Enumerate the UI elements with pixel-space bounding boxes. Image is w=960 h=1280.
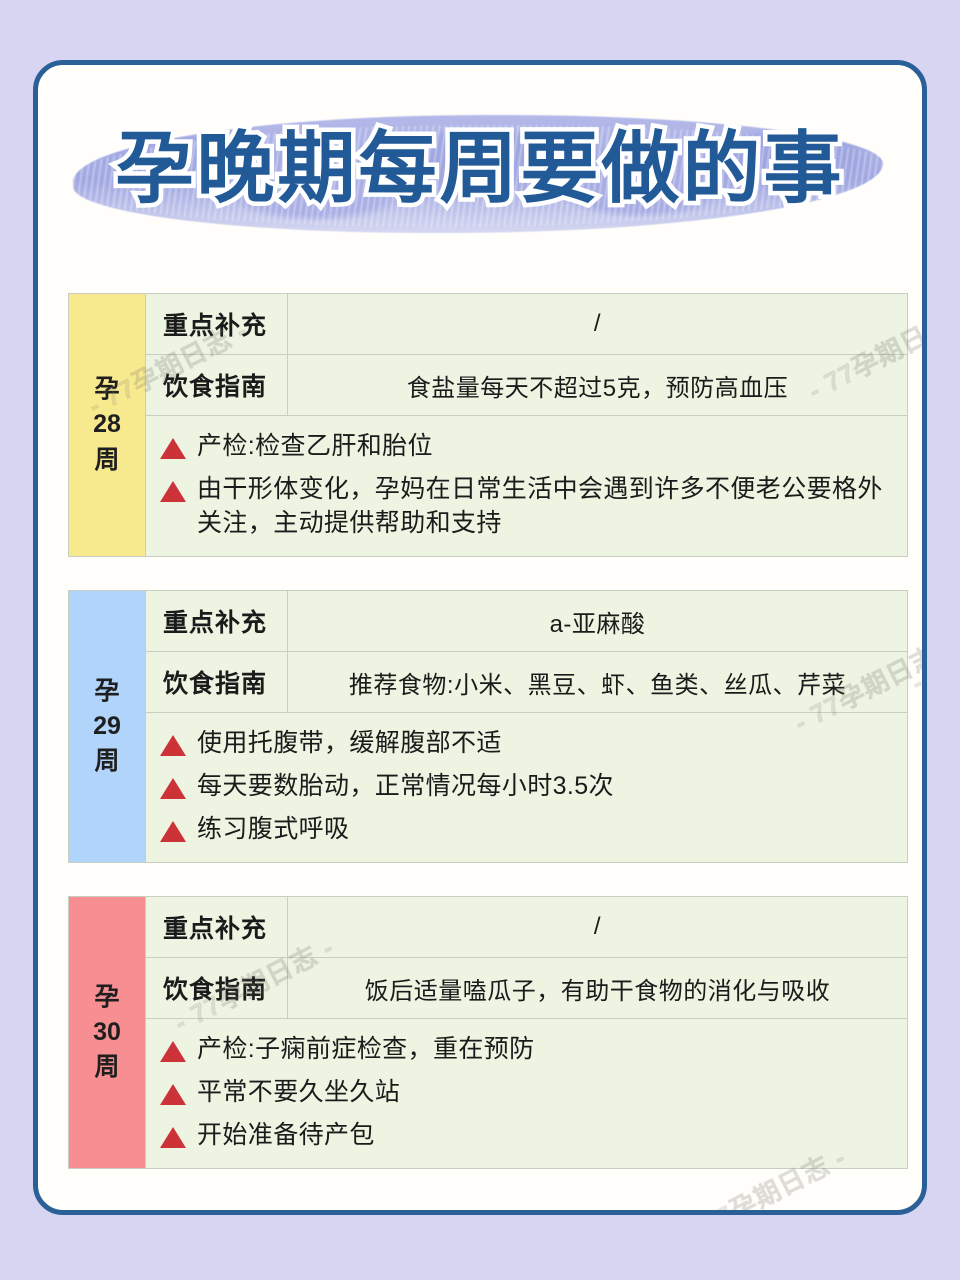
poster-card: 孕晚期每周要做的事 孕 28 周 重点补充 / 饮食指南 食盐量每天不超过5克，… [33, 60, 927, 1215]
triangle-bullet-icon [160, 778, 186, 799]
triangle-bullet-icon [160, 1084, 186, 1105]
row-label: 重点补充 [146, 294, 288, 354]
table-row: 重点补充 a-亚麻酸 [146, 591, 907, 652]
week-block: 孕 30 周 重点补充 / 饮食指南 饭后适量嗑瓜子，有助干食物的消化与吸收 产… [68, 896, 908, 1169]
page-title: 孕晚期每周要做的事 [38, 93, 922, 243]
week-block: 孕 29 周 重点补充 a-亚麻酸 饮食指南 推荐食物:小米、黑豆、虾、鱼类、丝… [68, 590, 908, 863]
list-item: 使用托腹带，缓解腹部不适 [160, 726, 891, 760]
row-value: 推荐食物:小米、黑豆、虾、鱼类、丝瓜、芹菜 [288, 652, 907, 712]
table-row: 重点补充 / [146, 897, 907, 958]
note-text: 产检:检查乙肝和胎位 [197, 429, 433, 463]
row-label: 饮食指南 [146, 652, 288, 712]
row-value: / [288, 294, 907, 354]
list-item: 每天要数胎动，正常情况每小时3.5次 [160, 769, 891, 803]
note-list: 产检:子痫前症检查，重在预防 平常不要久坐久站 开始准备待产包 [146, 1019, 907, 1168]
triangle-bullet-icon [160, 821, 186, 842]
week-number: 30 [93, 1017, 121, 1048]
week-suffix: 周 [94, 1052, 119, 1083]
week-block: 孕 28 周 重点补充 / 饮食指南 食盐量每天不超过5克，预防高血压 产检:检… [68, 293, 908, 557]
week-content: 重点补充 a-亚麻酸 饮食指南 推荐食物:小米、黑豆、虾、鱼类、丝瓜、芹菜 使用… [145, 590, 908, 863]
note-list: 使用托腹带，缓解腹部不适 每天要数胎动，正常情况每小时3.5次 练习腹式呼吸 [146, 713, 907, 862]
note-text: 产检:子痫前症检查，重在预防 [197, 1032, 535, 1066]
week-content: 重点补充 / 饮食指南 食盐量每天不超过5克，预防高血压 产检:检查乙肝和胎位 … [145, 293, 908, 557]
week-number: 29 [93, 711, 121, 742]
note-text: 由干形体变化，孕妈在日常生活中会遇到许多不便老公要格外关注，主动提供帮助和支持 [197, 472, 891, 540]
triangle-bullet-icon [160, 481, 186, 502]
note-text: 练习腹式呼吸 [197, 812, 349, 846]
note-text: 开始准备待产包 [197, 1118, 375, 1152]
week-prefix: 孕 [94, 676, 119, 707]
row-value: / [288, 897, 907, 957]
table-row: 饮食指南 饭后适量嗑瓜子，有助干食物的消化与吸收 [146, 958, 907, 1019]
list-item: 平常不要久坐久站 [160, 1075, 891, 1109]
row-label: 饮食指南 [146, 958, 288, 1018]
week-prefix: 孕 [94, 982, 119, 1013]
weekly-checklist-tables: 孕 28 周 重点补充 / 饮食指南 食盐量每天不超过5克，预防高血压 产检:检… [68, 293, 908, 1202]
table-row: 重点补充 / [146, 294, 907, 355]
week-content: 重点补充 / 饮食指南 饭后适量嗑瓜子，有助干食物的消化与吸收 产检:子痫前症检… [145, 896, 908, 1169]
week-label-column: 孕 29 周 [68, 590, 145, 863]
list-item: 产检:子痫前症检查，重在预防 [160, 1032, 891, 1066]
week-suffix: 周 [94, 746, 119, 777]
list-item: 练习腹式呼吸 [160, 812, 891, 846]
list-item: 由干形体变化，孕妈在日常生活中会遇到许多不便老公要格外关注，主动提供帮助和支持 [160, 472, 891, 540]
note-text: 使用托腹带，缓解腹部不适 [197, 726, 502, 760]
week-label-column: 孕 30 周 [68, 896, 145, 1169]
row-label: 重点补充 [146, 591, 288, 651]
row-label: 饮食指南 [146, 355, 288, 415]
row-value: 食盐量每天不超过5克，预防高血压 [288, 355, 907, 415]
table-row: 饮食指南 食盐量每天不超过5克，预防高血压 [146, 355, 907, 416]
week-label-column: 孕 28 周 [68, 293, 145, 557]
note-text: 平常不要久坐久站 [197, 1075, 400, 1109]
list-item: 开始准备待产包 [160, 1118, 891, 1152]
row-value: 饭后适量嗑瓜子，有助干食物的消化与吸收 [288, 958, 907, 1018]
note-text: 每天要数胎动，正常情况每小时3.5次 [197, 769, 614, 803]
triangle-bullet-icon [160, 1127, 186, 1148]
triangle-bullet-icon [160, 735, 186, 756]
note-list: 产检:检查乙肝和胎位 由干形体变化，孕妈在日常生活中会遇到许多不便老公要格外关注… [146, 416, 907, 556]
list-item: 产检:检查乙肝和胎位 [160, 429, 891, 463]
triangle-bullet-icon [160, 438, 186, 459]
row-value: a-亚麻酸 [288, 591, 907, 651]
row-label: 重点补充 [146, 897, 288, 957]
table-row: 饮食指南 推荐食物:小米、黑豆、虾、鱼类、丝瓜、芹菜 [146, 652, 907, 713]
week-prefix: 孕 [94, 374, 119, 405]
triangle-bullet-icon [160, 1041, 186, 1062]
week-suffix: 周 [94, 445, 119, 476]
title-banner: 孕晚期每周要做的事 [38, 93, 922, 253]
week-number: 28 [93, 409, 121, 440]
